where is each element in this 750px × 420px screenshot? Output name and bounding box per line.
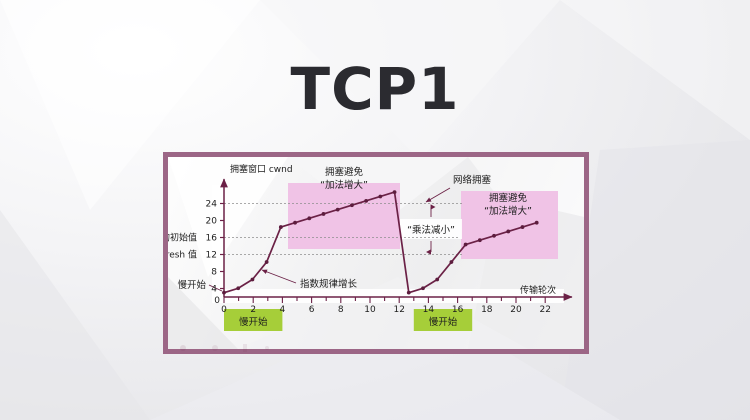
- cwnd-data-point: [336, 208, 340, 212]
- y-tick-24: 24: [206, 200, 218, 210]
- cwnd-data-point: [378, 195, 382, 199]
- x-axis-title: 传输轮次: [520, 284, 556, 296]
- congestion-avoidance-1-line2: “加法增大”: [320, 179, 368, 191]
- multiplicative-decrease-annotation: “乘法减小”: [407, 224, 455, 236]
- x-tick-8: 8: [338, 305, 344, 315]
- page-title: TCP1: [0, 55, 750, 123]
- plot-baseline-strip: [224, 289, 564, 303]
- x-tick-6: 6: [309, 305, 315, 315]
- congestion-avoidance-2-line2: “加法增大”: [484, 205, 532, 217]
- x-tick-12: 12: [393, 305, 404, 315]
- cwnd-data-point: [407, 291, 411, 295]
- y-tick-0: 0: [214, 296, 220, 306]
- x-tick-16: 16: [452, 305, 464, 315]
- cwnd-data-point: [393, 190, 397, 194]
- slow-start-annotation: 慢开始: [177, 279, 206, 291]
- x-tick-2: 2: [250, 305, 256, 315]
- cwnd-data-point: [521, 225, 525, 229]
- figure-canvas: 拥塞窗口 cwnd 传输轮次 24 20 16 12 8 4 0 ssthres…: [168, 157, 584, 349]
- cwnd-data-point: [435, 278, 439, 282]
- cwnd-data-point: [364, 199, 368, 203]
- cwnd-data-point: [222, 291, 226, 295]
- cwnd-data-point: [492, 234, 496, 238]
- network-congestion-annotation: 网络拥塞: [453, 174, 492, 186]
- slow-start-band-1-label: 慢开始: [239, 316, 268, 328]
- cwnd-data-point: [506, 230, 510, 234]
- x-tick-20: 20: [510, 305, 522, 315]
- ssthresh-initial-label: ssthresh 的初始值: [168, 232, 197, 244]
- chart-plot: 拥塞窗口 cwnd 传输轮次 24 20 16 12 8 4 0 ssthres…: [168, 157, 584, 349]
- cwnd-data-point: [464, 243, 468, 247]
- exponential-growth-annotation: 指数规律增长: [300, 278, 358, 290]
- y-tick-8: 8: [211, 268, 217, 278]
- cwnd-data-point: [421, 286, 425, 290]
- y-axis-title: 拥塞窗口 cwnd: [230, 163, 293, 175]
- x-tick-14: 14: [423, 305, 435, 315]
- network-congestion-leader: [426, 188, 450, 202]
- x-tick-0: 0: [221, 305, 227, 315]
- cwnd-data-point: [322, 212, 326, 216]
- cwnd-data-point: [279, 225, 283, 229]
- x-tick-18: 18: [481, 305, 493, 315]
- congestion-avoidance-band-1: [288, 183, 400, 249]
- x-tick-22: 22: [539, 305, 550, 315]
- congestion-avoidance-2-line1: 拥塞避免: [489, 192, 528, 204]
- cwnd-data-point: [236, 286, 240, 290]
- y-tick-12: 12: [206, 251, 217, 261]
- y-tick-16: 16: [206, 234, 218, 244]
- ssthresh-new-label: 新的 ssthresh 值: [168, 249, 197, 261]
- y-tick-20: 20: [206, 217, 218, 227]
- cwnd-data-point: [251, 278, 255, 282]
- cwnd-data-point: [350, 203, 354, 207]
- cwnd-data-point: [535, 221, 539, 225]
- cwnd-data-point: [478, 238, 482, 242]
- exponential-growth-leader: [262, 270, 296, 283]
- x-tick-4: 4: [280, 305, 286, 315]
- y-tick-4: 4: [211, 285, 217, 295]
- congestion-avoidance-1-line1: 拥塞避免: [325, 166, 364, 178]
- cwnd-data-point: [265, 260, 269, 264]
- cwnd-data-point: [450, 260, 454, 264]
- x-tick-10: 10: [364, 305, 376, 315]
- cwnd-data-point: [307, 216, 311, 220]
- slow-start-band-2-label: 慢开始: [429, 316, 458, 328]
- tcp-congestion-figure: 拥塞窗口 cwnd 传输轮次 24 20 16 12 8 4 0 ssthres…: [163, 152, 589, 354]
- cwnd-data-point: [293, 221, 297, 225]
